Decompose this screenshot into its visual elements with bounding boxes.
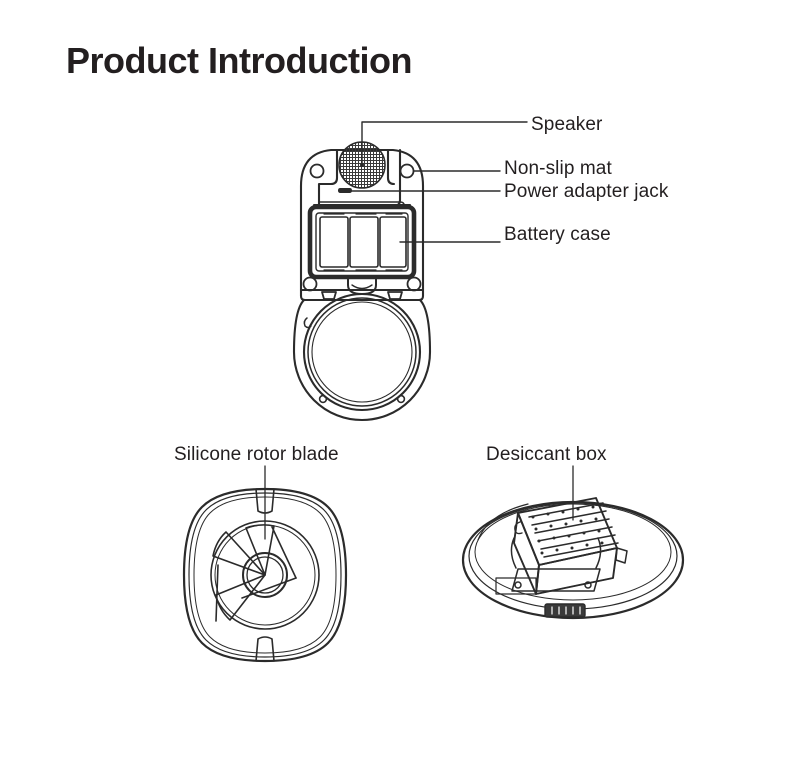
callout-label-speaker: Speaker	[531, 114, 602, 136]
callout-label-desiccant-box: Desiccant box	[486, 444, 607, 466]
battery-case	[310, 202, 414, 294]
product-introduction-diagram: Speaker Non-slip mat Power adapter jack …	[0, 0, 812, 774]
callout-label-power-adapter-jack: Power adapter jack	[504, 181, 668, 203]
base-connector	[545, 604, 585, 617]
diagram-canvas	[0, 0, 812, 774]
callout-label-silicone-rotor-blade: Silicone rotor blade	[174, 444, 339, 466]
callout-label-non-slip-mat: Non-slip mat	[504, 158, 612, 180]
desiccant-box	[514, 498, 627, 594]
callout-label-battery-case: Battery case	[504, 224, 611, 246]
